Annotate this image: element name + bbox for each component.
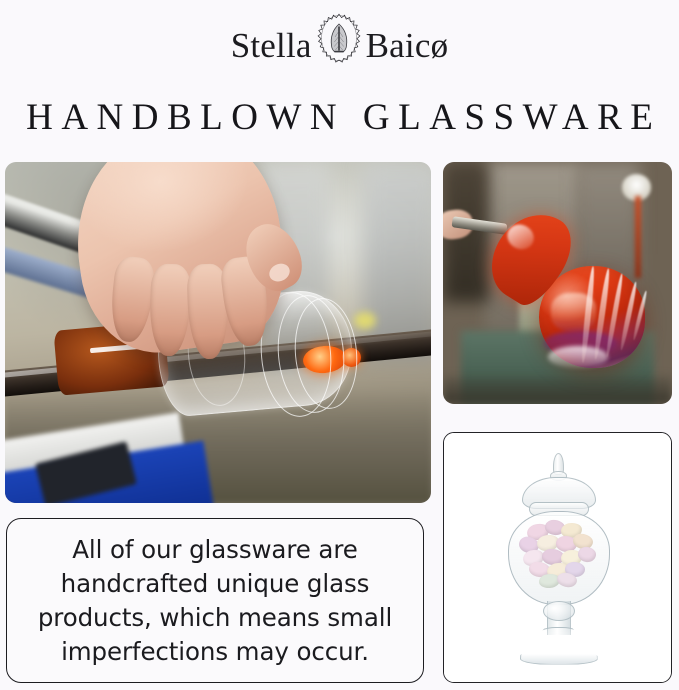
photo-content [443,162,672,404]
brand-name-left: Stella [231,28,312,63]
photo-glass-apothecary-jar-with-candy [443,432,672,683]
brand-name-right: Baicø [366,28,449,63]
leaf-sunburst-emblem-icon [310,12,368,78]
disclaimer-caption-box: All of our glassware are handcrafted uni… [6,518,424,683]
jar-body [508,511,610,605]
marketing-banner: Stella Baicø H [0,0,679,690]
apothecary-jar [499,451,617,665]
photo-content [5,162,431,503]
brand-lockup: Stella Baicø [0,12,679,78]
photo-molten-red-glass-globe [443,162,672,404]
page-title: HANDBLOWN GLASSWARE [0,96,679,140]
disclaimer-text: All of our glassware are handcrafted uni… [21,533,409,669]
photo-glassblower-shaping-clear-vessel [5,162,431,503]
